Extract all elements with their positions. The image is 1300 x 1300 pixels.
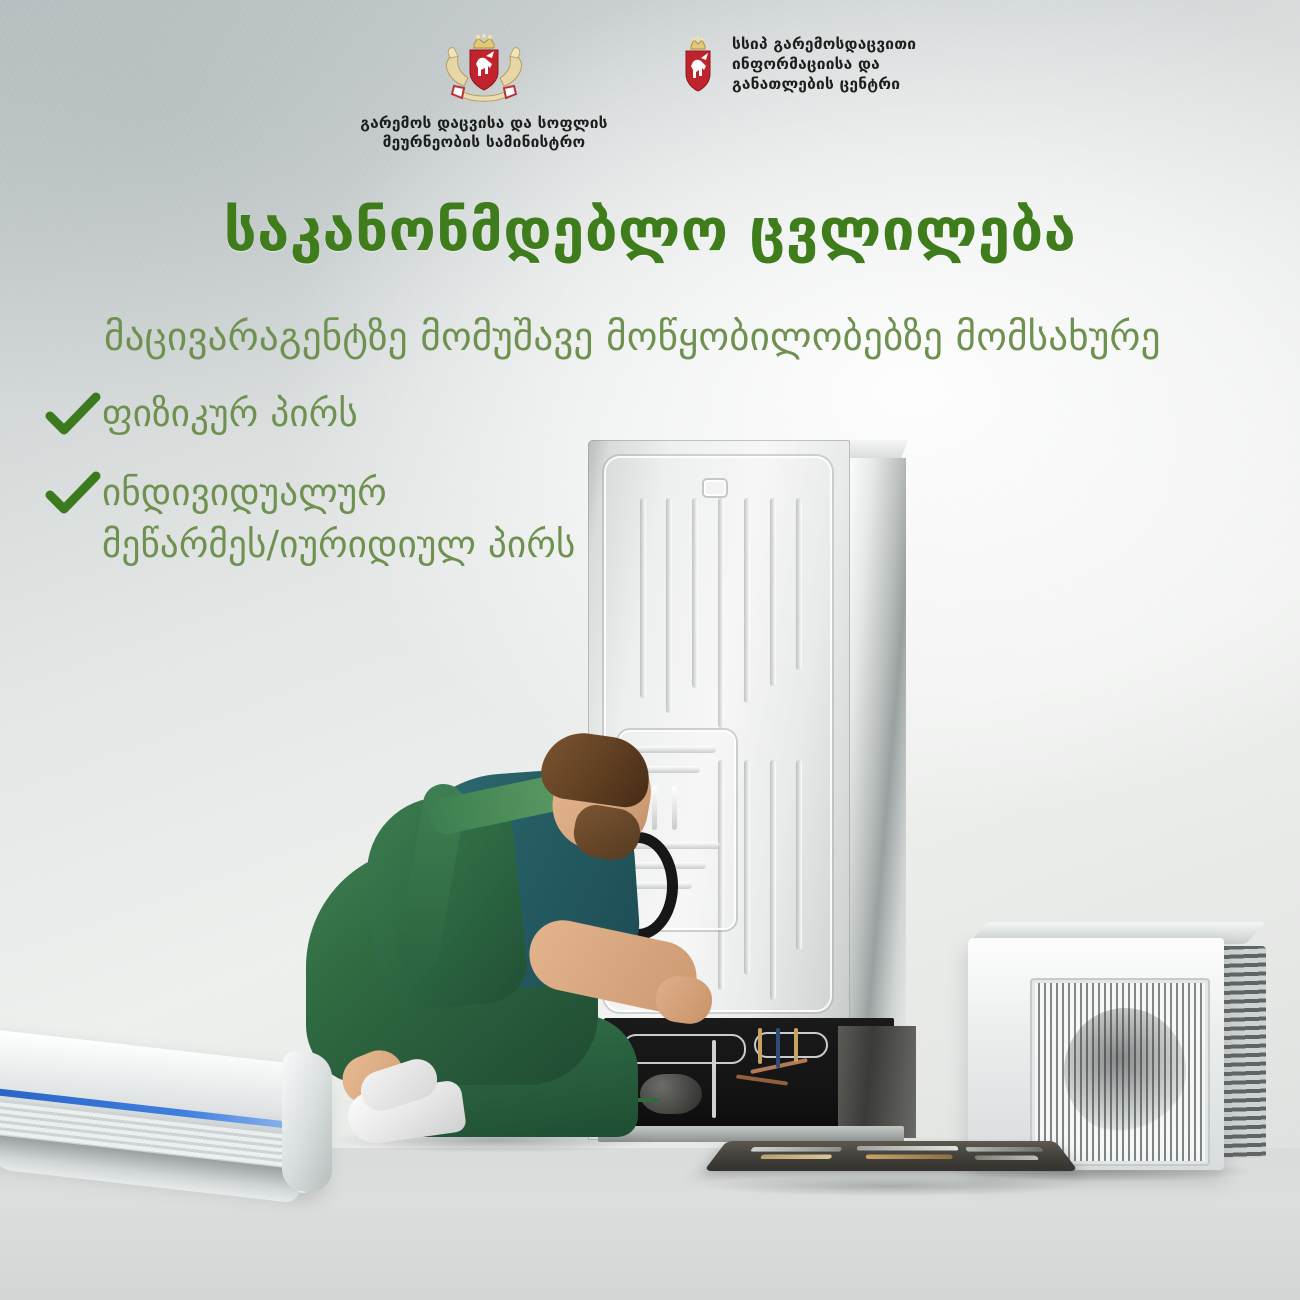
- check-icon: [44, 469, 102, 517]
- scene-illustration: [0, 0, 1300, 1300]
- outdoor-unit-side-vents: [1222, 946, 1266, 1158]
- org-center: სსიპ გარემოსდაცვითი ინფორმაციისა და განა…: [676, 34, 956, 96]
- georgia-coat-of-arms-ornate-icon: [442, 34, 526, 106]
- technician-hand: [653, 973, 715, 1026]
- poster-title: საკანონმდებლო ცვლილება: [0, 196, 1300, 264]
- tool-tray-shadow: [706, 1176, 1076, 1196]
- poster-subtitle: მაცივარაგენტზე მომუშავე მოწყობილობებზე მ…: [104, 315, 1204, 360]
- poster-canvas: გარემოს დაცვისა და სოფლის მეურნეობის სამ…: [0, 0, 1300, 1300]
- tool-tray: [716, 1118, 1066, 1196]
- technician: [300, 735, 720, 1165]
- indoor-unit-end-cap: [282, 1049, 332, 1195]
- tool-tray-body: [704, 1141, 1079, 1171]
- georgia-coat-of-arms-shield-icon: [676, 36, 720, 96]
- outdoor-unit-fan: [1064, 1008, 1186, 1134]
- bullet-item-2-label: ინდივიდუალურ მეწარმეს/იურიდიულ პირს: [102, 467, 576, 572]
- bullet-item-1-label: ფიზიკურ პირს: [102, 388, 358, 441]
- header: გარემოს დაცვისა და სოფლის მეურნეობის სამ…: [0, 34, 1300, 152]
- bullet-list: ფიზიკურ პირს ინდივიდუალურ მეწარმეს/იურიდ…: [44, 388, 576, 598]
- split-ac-indoor-unit: [0, 1048, 346, 1233]
- bullet-item-2: ინდივიდუალურ მეწარმეს/იურიდიულ პირს: [44, 467, 576, 572]
- org-ministry: გარემოს დაცვისა და სოფლის მეურნეობის სამ…: [344, 34, 624, 152]
- org-ministry-name: გარემოს დაცვისა და სოფლის მეურნეობის სამ…: [360, 114, 607, 152]
- org-center-name: სსიპ გარემოსდაცვითი ინფორმაციისა და განა…: [732, 34, 916, 94]
- check-icon: [44, 390, 102, 438]
- bullet-item-1: ფიზიკურ პირს: [44, 388, 576, 441]
